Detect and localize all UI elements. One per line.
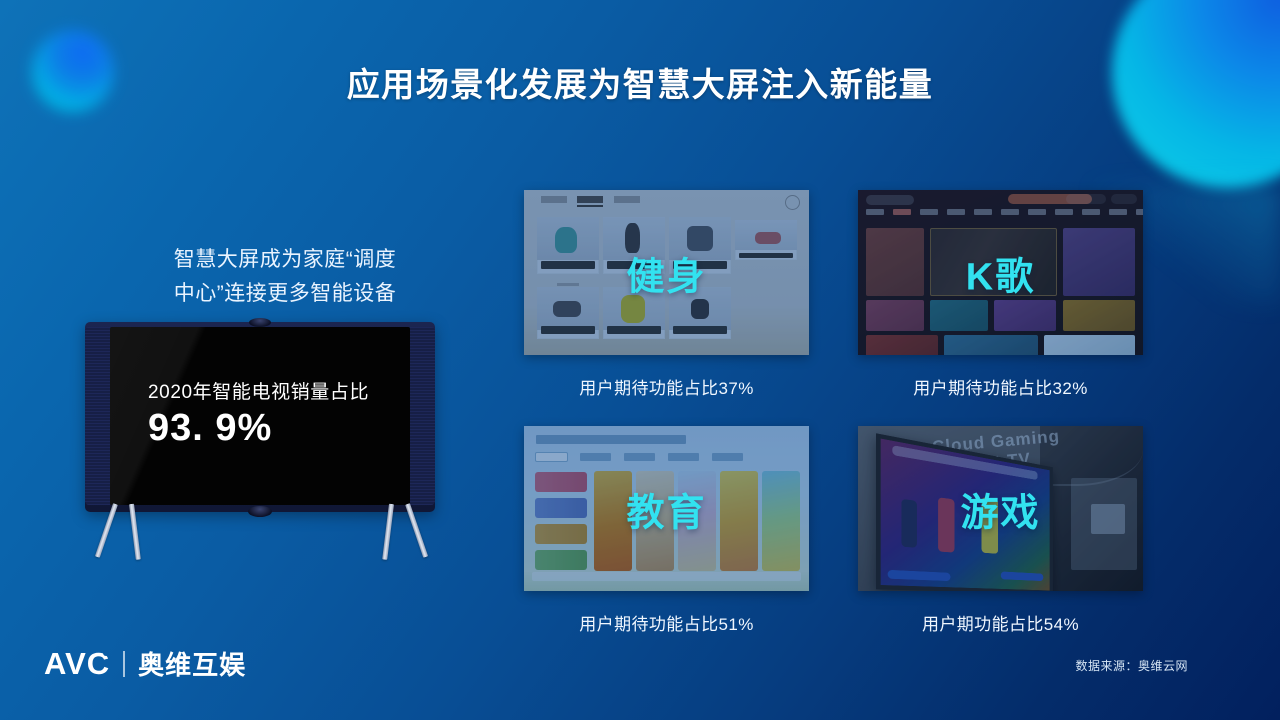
scene-card-karaoke[interactable]: K歌 用户期待功能占比32% bbox=[858, 190, 1143, 399]
tv-illustration: 2020年智能电视销量占比 93. 9% bbox=[85, 322, 435, 557]
scene-label-education: 教育 bbox=[524, 481, 809, 536]
logo-divider bbox=[123, 651, 125, 677]
thumbnail-fitness[interactable]: 健身 bbox=[524, 190, 809, 355]
tv-stat-value: 93. 9% bbox=[148, 406, 398, 450]
lead-line-1: 智慧大屏成为家庭“调度 bbox=[120, 243, 450, 277]
slide-root: 应用场景化发展为智慧大屏注入新能量 智慧大屏成为家庭“调度 中心”连接更多智能设… bbox=[0, 0, 1280, 720]
scene-card-education[interactable]: 教育 用户期待功能占比51% bbox=[524, 426, 809, 635]
scene-label-karaoke: K歌 bbox=[858, 245, 1143, 300]
scene-caption-gaming: 用户期功能占比54% bbox=[858, 610, 1143, 635]
tv-screen-text: 2020年智能电视销量占比 93. 9% bbox=[148, 377, 398, 450]
tv-camera-icon bbox=[249, 318, 271, 327]
scene-label-fitness: 健身 bbox=[524, 245, 809, 300]
thumbnail-karaoke[interactable]: K歌 bbox=[858, 190, 1143, 355]
lead-paragraph: 智慧大屏成为家庭“调度 中心”连接更多智能设备 bbox=[120, 243, 450, 311]
tv-leg bbox=[129, 504, 141, 560]
logo-dot-icon bbox=[103, 650, 109, 656]
tv-speaker-right bbox=[410, 327, 435, 505]
lead-line-2: 中心”连接更多智能设备 bbox=[120, 277, 450, 311]
tv-body: 2020年智能电视销量占比 93. 9% bbox=[85, 322, 435, 512]
scene-label-gaming: 游戏 bbox=[858, 481, 1143, 536]
logo-chinese-text: 奥维互娱 bbox=[138, 645, 246, 682]
tv-logo-bump-icon bbox=[248, 506, 272, 517]
brand-logo: AVC 奥维互娱 bbox=[44, 645, 246, 682]
scene-caption-education: 用户期待功能占比51% bbox=[524, 610, 809, 635]
scene-card-fitness[interactable]: 健身 用户期待功能占比37% bbox=[524, 190, 809, 399]
tv-leg bbox=[382, 504, 394, 560]
tv-speaker-left bbox=[85, 327, 110, 505]
thumbnail-gaming[interactable]: Cloud Gaming on Smart TV 游戏 bbox=[858, 426, 1143, 591]
page-title: 应用场景化发展为智慧大屏注入新能量 bbox=[0, 58, 1280, 106]
data-source-note: 数据来源：奥维云网 bbox=[1075, 657, 1188, 674]
tv-screen: 2020年智能电视销量占比 93. 9% bbox=[110, 327, 410, 505]
logo-latin-text: AVC bbox=[44, 646, 110, 682]
thumbnail-education[interactable]: 教育 bbox=[524, 426, 809, 591]
scene-card-gaming[interactable]: Cloud Gaming on Smart TV 游戏 用户期功能占比54% bbox=[858, 426, 1143, 635]
tv-headline: 2020年智能电视销量占比 bbox=[148, 377, 398, 404]
scene-caption-karaoke: 用户期待功能占比32% bbox=[858, 374, 1143, 399]
scene-caption-fitness: 用户期待功能占比37% bbox=[524, 374, 809, 399]
